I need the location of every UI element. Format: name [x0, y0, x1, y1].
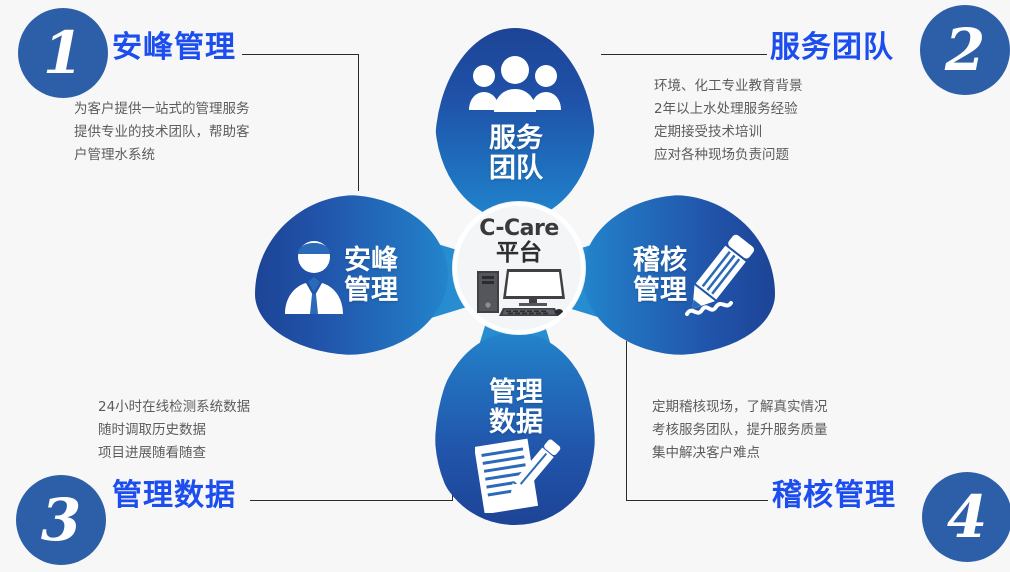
center-hub[interactable]: C-Care 平台 — [453, 202, 585, 334]
petal-audit-management[interactable] — [570, 195, 775, 355]
section-body-3: 24小时在线检测系统数据 随时调取历史数据 项目进展随看随查 — [98, 396, 250, 465]
step-badge-1: 1 — [18, 8, 108, 98]
desktop-computer-image — [473, 267, 565, 317]
hub-subtitle: 平台 — [496, 241, 542, 265]
section-body-3-line-1: 24小时在线检测系统数据 — [98, 396, 250, 419]
section-body-1: 为客户提供一站式的管理服务 提供专业的技术团队，帮助客 户管理水系统 — [74, 98, 250, 167]
section-body-3-line-2: 随时调取历史数据 — [98, 419, 250, 442]
infographic-canvas: 1 2 3 4 安峰管理 服务团队 管理数据 稽核管理 为客户提供一站式的管理服… — [0, 0, 1010, 572]
step-badge-2: 2 — [920, 5, 1010, 95]
petal-management-data[interactable] — [435, 320, 595, 525]
section-body-1-line-1: 为客户提供一站式的管理服务 — [74, 98, 250, 121]
step-badge-1-number: 1 — [43, 24, 83, 82]
step-badge-4-number: 4 — [947, 488, 987, 546]
section-title-3: 管理数据 — [112, 470, 236, 514]
step-badge-3-number: 3 — [41, 491, 81, 549]
section-title-2: 服务团队 — [770, 22, 894, 66]
section-title-4: 稽核管理 — [772, 470, 896, 514]
section-title-1: 安峰管理 — [112, 22, 236, 66]
step-badge-3: 3 — [16, 475, 106, 565]
section-body-3-line-3: 项目进展随看随查 — [98, 442, 250, 465]
hub-title: C-Care — [479, 218, 559, 240]
step-badge-2-number: 2 — [945, 21, 985, 79]
petal-anfeng-management[interactable] — [255, 195, 460, 355]
section-body-1-line-2: 提供专业的技术团队，帮助客 — [74, 121, 250, 144]
step-badge-4: 4 — [922, 472, 1010, 562]
petal-diagram: 服务 团队 稽核 管理 管理 数据 安峰 管理 C-Care 平台 — [255, 20, 775, 520]
section-body-1-line-3: 户管理水系统 — [74, 144, 250, 167]
